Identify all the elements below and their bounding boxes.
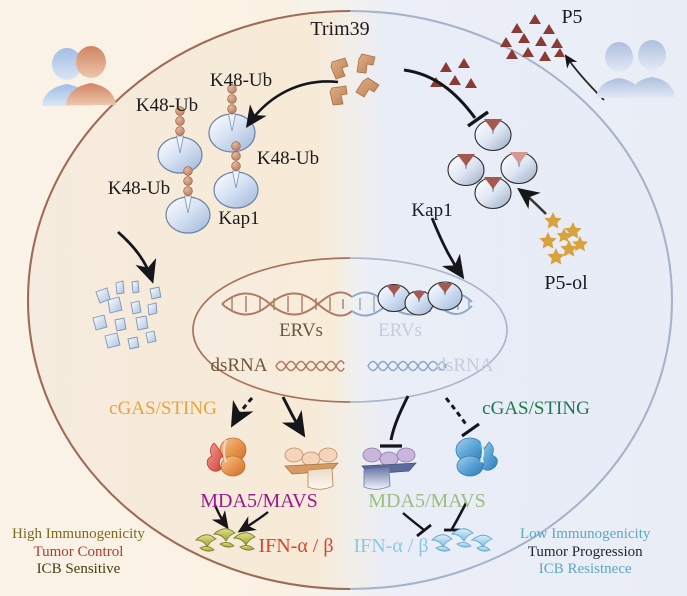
label-cgas-sting-right: cGAS/STING [482, 398, 590, 420]
label-p5ol: P5-ol [544, 272, 587, 296]
label-k48-ub-2: K48-Ub [210, 70, 272, 92]
label-kap1-right: Kap1 [411, 200, 452, 222]
label-cgas-sting-left: cGAS/STING [109, 398, 217, 420]
label-k48-ub-1: K48-Ub [136, 95, 198, 117]
kap1-protein-icon [448, 154, 484, 186]
nucleus-body [193, 258, 507, 402]
outcome-left-line1: High Immunogenicity [12, 526, 145, 544]
label-k48-ub-4: K48-Ub [108, 178, 170, 200]
label-ifn-right: IFN-α / β [353, 535, 428, 559]
label-k48-ub-3: K48-Ub [257, 148, 319, 170]
label-trim39: Trim39 [310, 18, 369, 42]
label-kap1-left: Kap1 [218, 208, 259, 230]
outcome-left-line3: ICB Sensitive [12, 561, 145, 579]
outcome-right-line2: Tumor Progression [520, 544, 650, 562]
figure-canvas: Trim39 K48-Ub K48-Ub K48-Ub K48-Ub Kap1 … [0, 0, 687, 596]
ubiquitin-chain-icon [232, 142, 241, 171]
label-ervs-left: ERVs [279, 320, 323, 342]
outcome-left-line2: Tumor Control [12, 544, 145, 562]
outcome-right-line3: ICB Resistnece [520, 561, 650, 579]
outcome-right-block: Low Immunogenicity Tumor Progression ICB… [520, 526, 650, 579]
kap1-protein-icon [475, 119, 511, 151]
ubiquitin-chain-icon [184, 167, 193, 196]
outcome-left-block: High Immunogenicity Tumor Control ICB Se… [12, 526, 145, 579]
outcome-right-line1: Low Immunogenicity [520, 526, 650, 544]
label-ifn-left: IFN-α / β [258, 535, 333, 559]
kap1-protein-icon [475, 177, 511, 209]
label-dsrna-right: dsRNA [436, 355, 493, 377]
label-dsrna-left: dsRNA [210, 355, 267, 377]
cgas-sting-complex-left [207, 438, 246, 476]
label-p5: P5 [561, 6, 582, 30]
kap1-protein-icon [428, 282, 462, 310]
label-ervs-right: ERVs [378, 320, 422, 342]
kap1-protein-icon [501, 152, 537, 184]
kap1-protein-icon [378, 285, 410, 312]
diagram-artwork [0, 0, 687, 596]
label-mda5-mavs-left: MDA5/MAVS [200, 490, 317, 514]
label-mda5-mavs-right: MDA5/MAVS [368, 490, 485, 514]
